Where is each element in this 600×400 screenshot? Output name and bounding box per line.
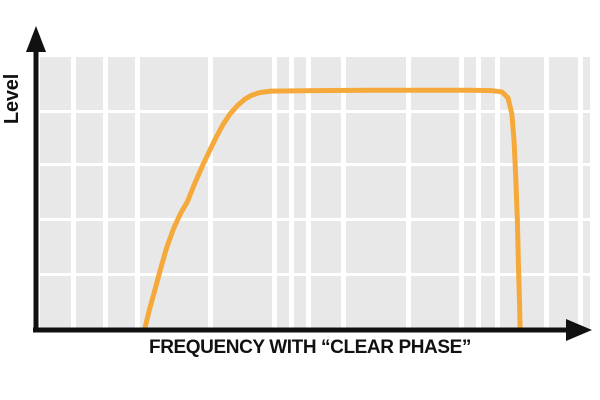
grid-row-2 bbox=[40, 113, 590, 163]
grid-row-3 bbox=[40, 166, 590, 218]
grid-row-5 bbox=[40, 276, 590, 329]
y-axis-label: Level bbox=[0, 44, 24, 154]
arrow-up-icon bbox=[26, 26, 46, 52]
frequency-response-chart: Level FREQUENCY WITH “CLEAR PHASE” bbox=[0, 0, 600, 400]
x-axis-label: FREQUENCY WITH “CLEAR PHASE” bbox=[30, 337, 590, 359]
grid-row-4 bbox=[40, 221, 590, 273]
